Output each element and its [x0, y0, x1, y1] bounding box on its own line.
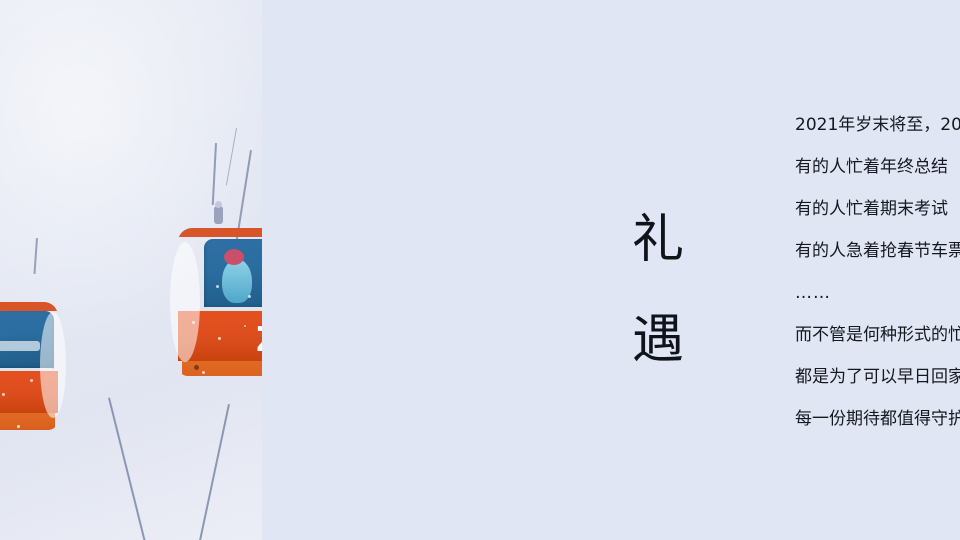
gondola-hanger-icon — [214, 206, 223, 224]
photo-panel: Z — [0, 0, 262, 540]
gondola-edge-highlight — [40, 312, 66, 418]
content-panel: 礼 遇 2021年岁末将至，2022年也即将开启新征程 有的人忙着年终总结 有的… — [262, 0, 960, 540]
body-text-block: 2021年岁末将至，2022年也即将开启新征程 有的人忙着年终总结 有的人忙着期… — [795, 104, 960, 440]
gondola-underside — [0, 413, 55, 430]
body-line: 每一份期待都值得守护 — [795, 398, 960, 440]
body-line-ellipsis: …… — [795, 272, 960, 314]
gondola-edge-highlight — [170, 242, 200, 362]
gondola-bolt — [194, 365, 199, 370]
body-line: 有的人忙着年终总结 — [795, 146, 960, 188]
gondola-window — [204, 239, 262, 311]
page-title-char-2: 遇 — [628, 290, 688, 390]
body-line: 2021年岁末将至，2022年也即将开启新征程 — [795, 104, 960, 146]
body-line: 有的人忙着期末考试 — [795, 188, 960, 230]
page-title: 礼 遇 — [628, 190, 688, 390]
body-line: 有的人急着抢春节车票 — [795, 230, 960, 272]
body-line: 而不管是何种形式的忙碌 — [795, 314, 960, 356]
gondola-roof — [0, 302, 58, 311]
window-reflection — [0, 341, 40, 351]
gondola-roof — [178, 228, 262, 237]
gondola-underside — [182, 361, 262, 376]
passenger-hat — [224, 249, 244, 265]
slide-root: Z — [0, 0, 960, 540]
page-title-char-1: 礼 — [628, 190, 688, 290]
body-line: 都是为了可以早日回家和亲人团聚 — [795, 356, 960, 398]
